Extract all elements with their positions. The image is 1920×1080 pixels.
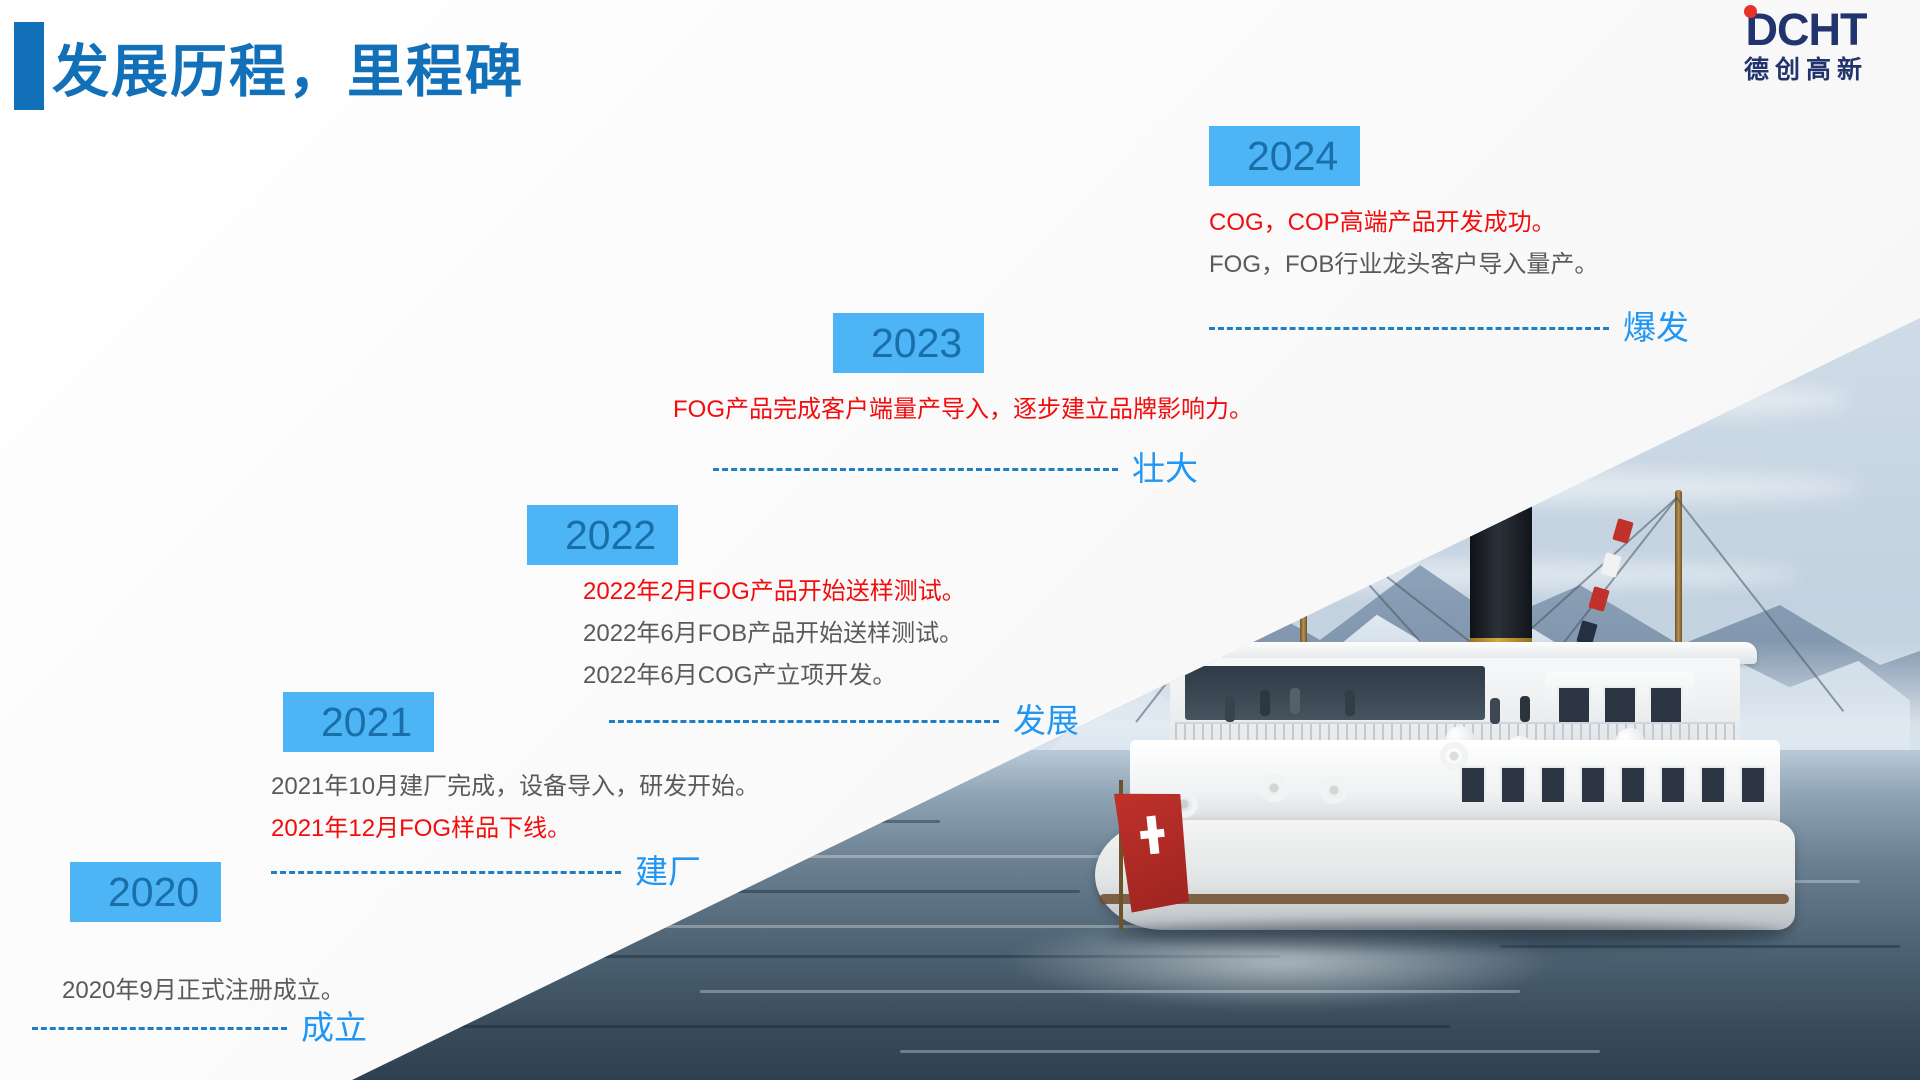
- phase-label: 壮大: [1132, 449, 1198, 489]
- hull: [1095, 820, 1795, 930]
- milestone-line: FOG产品完成客户端量产导入，逐步建立品牌影响力。: [673, 389, 1253, 431]
- milestone-line: 2020年9月正式注册成立。: [62, 970, 367, 1012]
- hull-stripe: [1099, 894, 1789, 904]
- milestone-line: 2022年6月FOB产品开始送样测试。: [583, 613, 1079, 655]
- milestone-2023: 2023 FOG产品完成客户端量产导入，逐步建立品牌影响力。 壮大: [833, 313, 1253, 489]
- dashed-connector: [32, 1027, 287, 1030]
- milestone-2020-lines: 2020年9月正式注册成立。: [62, 970, 367, 1012]
- milestone-line: 2022年6月COG产立项开发。: [583, 655, 1079, 697]
- milestone-2023-lines: FOG产品完成客户端量产导入，逐步建立品牌影响力。: [673, 389, 1253, 431]
- milestone-line: COG，COP高端产品开发成功。: [1209, 202, 1689, 244]
- milestone-line: 2021年10月建厂完成，设备导入，研发开始。: [271, 766, 759, 808]
- logo-subtitle: 德创高新: [1708, 54, 1904, 86]
- milestone-2023-phase-row: 壮大: [713, 449, 1253, 489]
- milestone-2022-lines: 2022年2月FOG产品开始送样测试。 2022年6月FOB产品开始送样测试。 …: [583, 571, 1079, 697]
- logo-wordmark: DCHT: [1746, 6, 1867, 54]
- year-badge-2023: 2023: [833, 313, 984, 373]
- milestone-2024-phase-row: 爆发: [1209, 308, 1689, 348]
- company-logo: DCHT 德创高新: [1708, 6, 1904, 102]
- phase-label: 发展: [1013, 701, 1079, 741]
- year-badge-2021: 2021: [283, 692, 434, 752]
- milestone-2021-lines: 2021年10月建厂完成，设备导入，研发开始。 2021年12月FOG样品下线。: [271, 766, 759, 850]
- funnel-upper: [1470, 500, 1532, 640]
- year-badge-2020: 2020: [70, 862, 221, 922]
- steamboat: [1075, 490, 1815, 970]
- phase-label: 建厂: [635, 852, 701, 892]
- milestone-2024: 2024 COG，COP高端产品开发成功。 FOG，FOB行业龙头客户导入量产。…: [1209, 126, 1689, 348]
- slide-canvas: 发展历程，里程碑 DCHT 德创高新 2024 COG，COP高端产品开发成功。…: [0, 0, 1920, 1080]
- milestone-line: FOG，FOB行业龙头客户导入量产。: [1209, 244, 1689, 286]
- page-title: 发展历程，里程碑: [52, 26, 524, 108]
- logo-main-text: DCHT: [1746, 4, 1867, 55]
- phase-label: 成立: [301, 1008, 367, 1048]
- dashed-connector: [1209, 327, 1609, 330]
- milestone-2024-lines: COG，COP高端产品开发成功。 FOG，FOB行业龙头客户导入量产。: [1209, 202, 1689, 286]
- milestone-2020: 2020 2020年9月正式注册成立。 成立: [70, 862, 367, 1048]
- hull-shadow: [1105, 922, 1785, 948]
- milestone-2020-phase-row: 成立: [32, 1008, 367, 1048]
- year-badge-2024: 2024: [1209, 126, 1360, 186]
- logo-dot-icon: [1744, 5, 1757, 18]
- phase-label: 爆发: [1623, 308, 1689, 348]
- milestone-line: 2021年12月FOG样品下线。: [271, 808, 759, 850]
- year-badge-2022: 2022: [527, 505, 678, 565]
- dashed-connector: [713, 468, 1118, 471]
- title-accent-bar: [14, 22, 44, 110]
- milestone-line: 2022年2月FOG产品开始送样测试。: [583, 571, 1079, 613]
